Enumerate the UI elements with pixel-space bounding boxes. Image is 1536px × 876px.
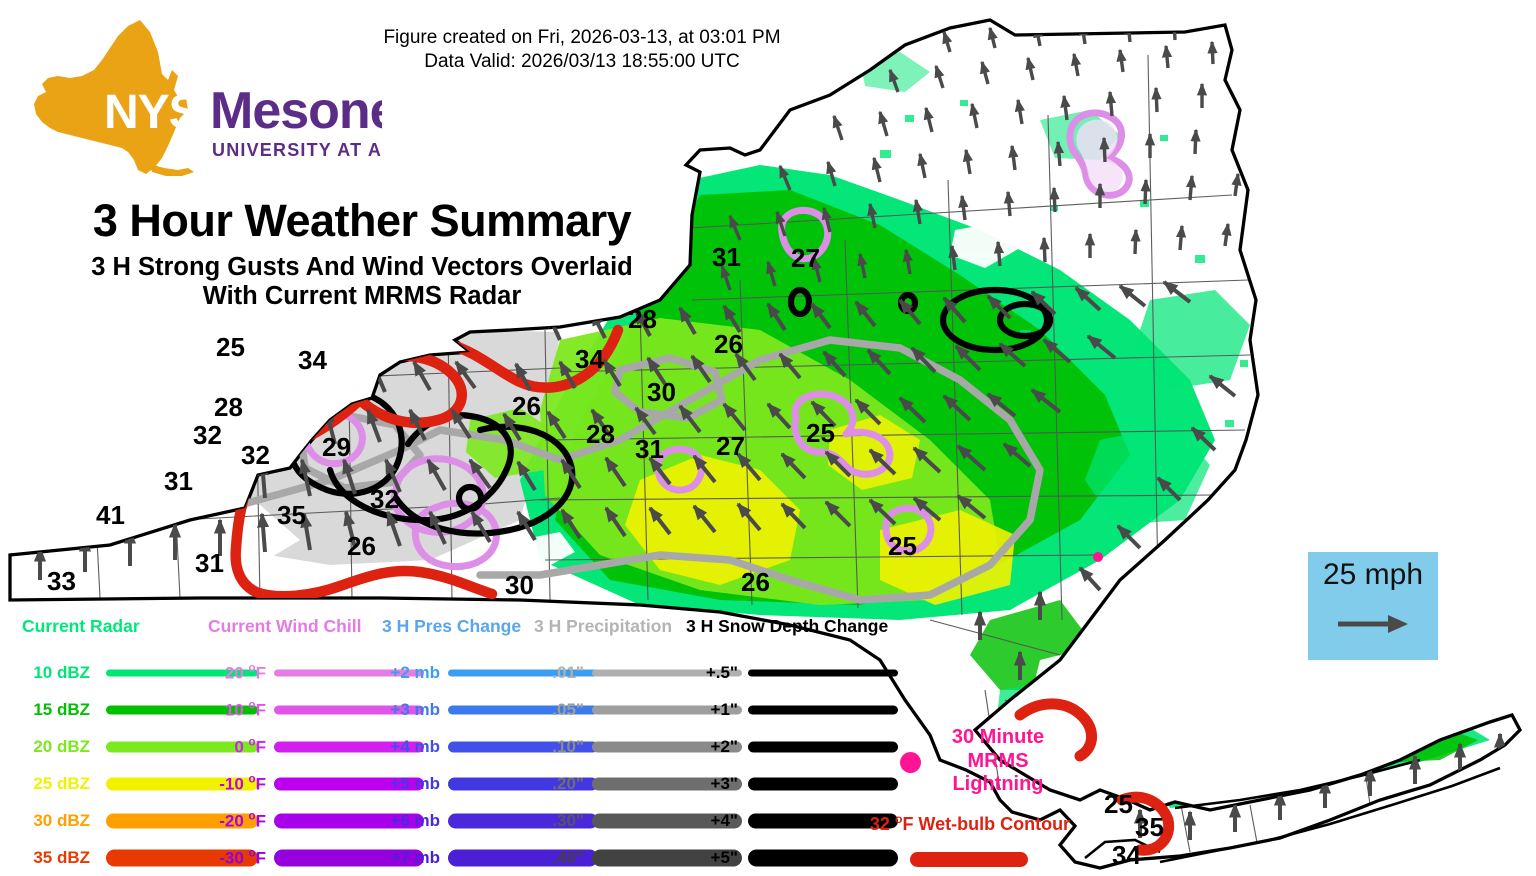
gust-value-label: 27 — [716, 431, 745, 462]
legend-entry-label: +2 mb — [366, 663, 440, 683]
gust-value-label: 25 — [1104, 789, 1133, 820]
legend-entry-label: 20 oF — [192, 663, 266, 684]
legend-entry-label: .01" — [530, 663, 584, 683]
legend-entry-label: +6 mb — [366, 811, 440, 831]
gust-value-label: 31 — [195, 548, 224, 579]
legend-entry-label: 20 dBZ — [6, 737, 90, 757]
legend-entry-label: -30 oF — [192, 848, 266, 869]
legend-entry: +.5" — [686, 658, 898, 688]
legend-entry-label: .05" — [530, 700, 584, 720]
legend-entry-label: 10 oF — [192, 700, 266, 721]
gust-value-label: 33 — [47, 566, 76, 597]
gust-value-label: 32 — [370, 484, 399, 515]
legend-entry-label: 15 dBZ — [6, 700, 90, 720]
legend-entry-bar — [748, 850, 898, 867]
legend-entry-label: +5" — [686, 848, 738, 868]
gust-value-label: 41 — [96, 500, 125, 531]
wind-reference-label: 25 mph — [1308, 558, 1438, 592]
lightning-legend-label: 30 Minute MRMS Lightning — [928, 726, 1068, 797]
legend-entry-label: 10 dBZ — [6, 663, 90, 683]
gust-value-label: 34 — [1112, 840, 1141, 871]
legend-entry-bar — [748, 706, 898, 715]
gust-value-label: 30 — [647, 377, 676, 408]
gust-value-label: 32 — [193, 420, 222, 451]
gust-value-label: 31 — [635, 434, 664, 465]
legend-entry-label: -20 oF — [192, 811, 266, 832]
legend-entry-label: .10" — [530, 737, 584, 757]
gust-value-label: 27 — [791, 243, 820, 274]
gust-value-label: 25 — [216, 332, 245, 363]
legend-entry-label: .40" — [530, 848, 584, 868]
legend-entry-bar — [748, 742, 898, 753]
gust-value-label: 35 — [1135, 812, 1164, 843]
legend-entry: +1" — [686, 695, 898, 725]
legend-column-title: Current Wind Chill — [192, 616, 361, 637]
gust-value-label: 26 — [347, 531, 376, 562]
legend-column-title: 3 H Snow Depth Change — [686, 616, 888, 637]
gust-value-label: 25 — [888, 531, 917, 562]
legend-column-4: 3 H Precipitation.01".05".10".20".30".40… — [530, 616, 672, 637]
wind-speed-reference: 25 mph — [1308, 552, 1438, 660]
legend-entry-bar — [748, 778, 898, 791]
legend-entry-label: -10 oF — [192, 774, 266, 795]
legend-column-3: 3 H Pres Change+2 mb+3 mb+4 mb+5 mb+6 mb… — [366, 616, 521, 637]
gust-value-label: 34 — [298, 345, 327, 376]
wetbulb-legend-bar — [910, 852, 1028, 867]
gust-value-label: 26 — [741, 567, 770, 598]
gust-value-label: 31 — [712, 242, 741, 273]
legend-entry-label: .20" — [530, 774, 584, 794]
legend-entry-label: .30" — [530, 811, 584, 831]
gust-value-label: 28 — [214, 392, 243, 423]
gust-value-label: 29 — [322, 432, 351, 463]
legend-column-5: 3 H Snow Depth Change+.5"+1"+2"+3"+4"+5" — [686, 616, 888, 637]
legend-entry-bar — [748, 670, 898, 677]
legend-entry-label: 30 dBZ — [6, 811, 90, 831]
legend-entry-label: +4" — [686, 811, 738, 831]
legend-column-title: Current Radar — [6, 616, 140, 637]
gust-value-label: 26 — [714, 329, 743, 360]
gust-value-label: 25 — [806, 418, 835, 449]
legend-entry-label: 35 dBZ — [6, 848, 90, 868]
gust-value-label: 28 — [586, 419, 615, 450]
legend-entry-label: +1" — [686, 700, 738, 720]
legend-column-title: 3 H Pres Change — [366, 616, 521, 637]
legend-entry-label: +.5" — [686, 663, 738, 683]
lightning-dot-icon — [900, 752, 921, 773]
legend-entry-label: +3 mb — [366, 700, 440, 720]
legend-column-2: Current Wind Chill20 oF10 oF0 oF-10 oF-2… — [192, 616, 361, 637]
legend-entry-label: 25 dBZ — [6, 774, 90, 794]
lightning-label-line-3: Lightning — [928, 773, 1068, 797]
wind-reference-arrow-icon — [1336, 612, 1411, 641]
legend-entry-label: +5 mb — [366, 774, 440, 794]
lightning-label-line-2: MRMS — [928, 750, 1068, 774]
legend-entry-label: 0 oF — [192, 737, 266, 758]
legend-column-title: 3 H Precipitation — [530, 616, 672, 637]
wetbulb-legend-label: 32 oF Wet-bulb Contour — [860, 812, 1080, 835]
legend-column-1: Current Radar10 dBZ15 dBZ20 dBZ25 dBZ30 … — [6, 616, 140, 637]
legend-entry-label: +4 mb — [366, 737, 440, 757]
gust-value-label: 32 — [241, 440, 270, 471]
legend-entry-label: +7 mb — [366, 848, 440, 868]
lightning-label-line-1: 30 Minute — [928, 726, 1068, 750]
gust-value-label: 30 — [505, 570, 534, 601]
gust-value-label: 31 — [164, 466, 193, 497]
legend-entry-label: +3" — [686, 774, 738, 794]
legend-entry: +3" — [686, 769, 898, 799]
gust-value-label: 34 — [575, 344, 604, 375]
legend-entry: +5" — [686, 843, 898, 873]
legend-entry-label: +2" — [686, 737, 738, 757]
legend-entry: +2" — [686, 732, 898, 762]
gust-value-label: 28 — [628, 304, 657, 335]
map-legend: Current Radar10 dBZ15 dBZ20 dBZ25 dBZ30 … — [0, 616, 1070, 876]
gust-value-label: 26 — [512, 391, 541, 422]
gust-value-label: 35 — [277, 500, 306, 531]
